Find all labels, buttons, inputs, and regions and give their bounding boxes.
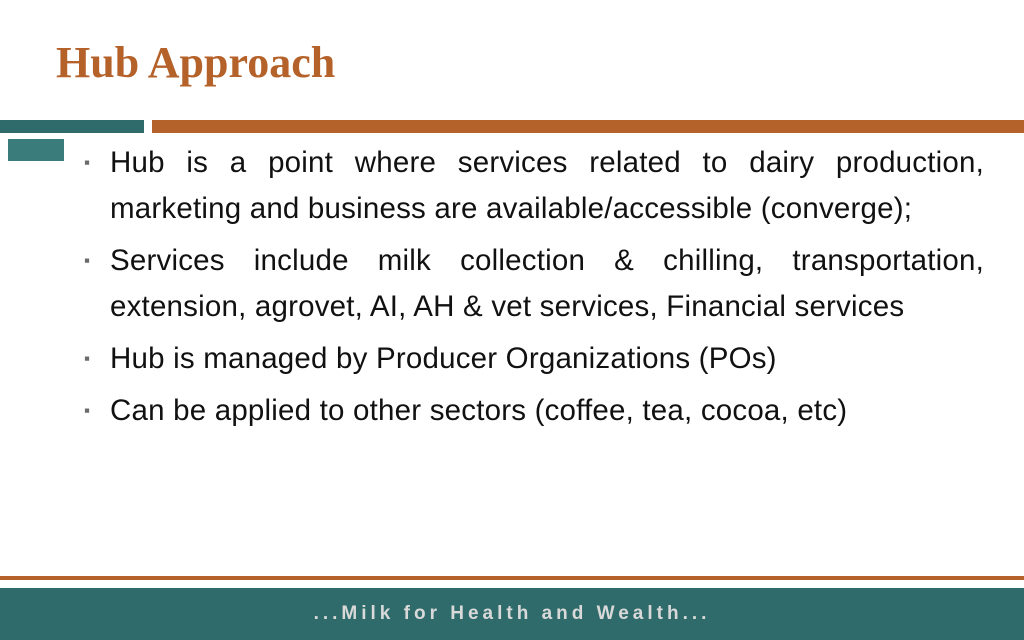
list-item: ▪ Can be applied to other sectors (coffe… <box>84 388 984 434</box>
title-divider-orange <box>152 120 1024 133</box>
slide: Hub Approach ▪ Hub is a point where serv… <box>0 0 1024 640</box>
bullet-marker-icon: ▪ <box>84 140 110 186</box>
list-item-text: Hub is managed by Producer Organizations… <box>110 336 984 382</box>
bullet-marker-icon: ▪ <box>84 238 110 284</box>
list-item: ▪ Hub is managed by Producer Organizatio… <box>84 336 984 382</box>
list-item: ▪ Services include milk collection & chi… <box>84 238 984 330</box>
footer-text: ...Milk for Health and Wealth... <box>314 603 711 625</box>
page-title: Hub Approach <box>56 40 335 86</box>
footer-divider <box>0 576 1024 580</box>
bullet-marker-icon: ▪ <box>84 336 110 382</box>
title-divider-teal <box>0 120 144 133</box>
list-item: ▪ Hub is a point where services related … <box>84 140 984 232</box>
bullet-list: ▪ Hub is a point where services related … <box>84 140 984 440</box>
title-accent-block <box>8 139 64 161</box>
list-item-text: Hub is a point where services related to… <box>110 140 984 232</box>
bullet-marker-icon: ▪ <box>84 388 110 434</box>
list-item-text: Can be applied to other sectors (coffee,… <box>110 388 984 434</box>
list-item-text: Services include milk collection & chill… <box>110 238 984 330</box>
footer-band: ...Milk for Health and Wealth... <box>0 588 1024 640</box>
